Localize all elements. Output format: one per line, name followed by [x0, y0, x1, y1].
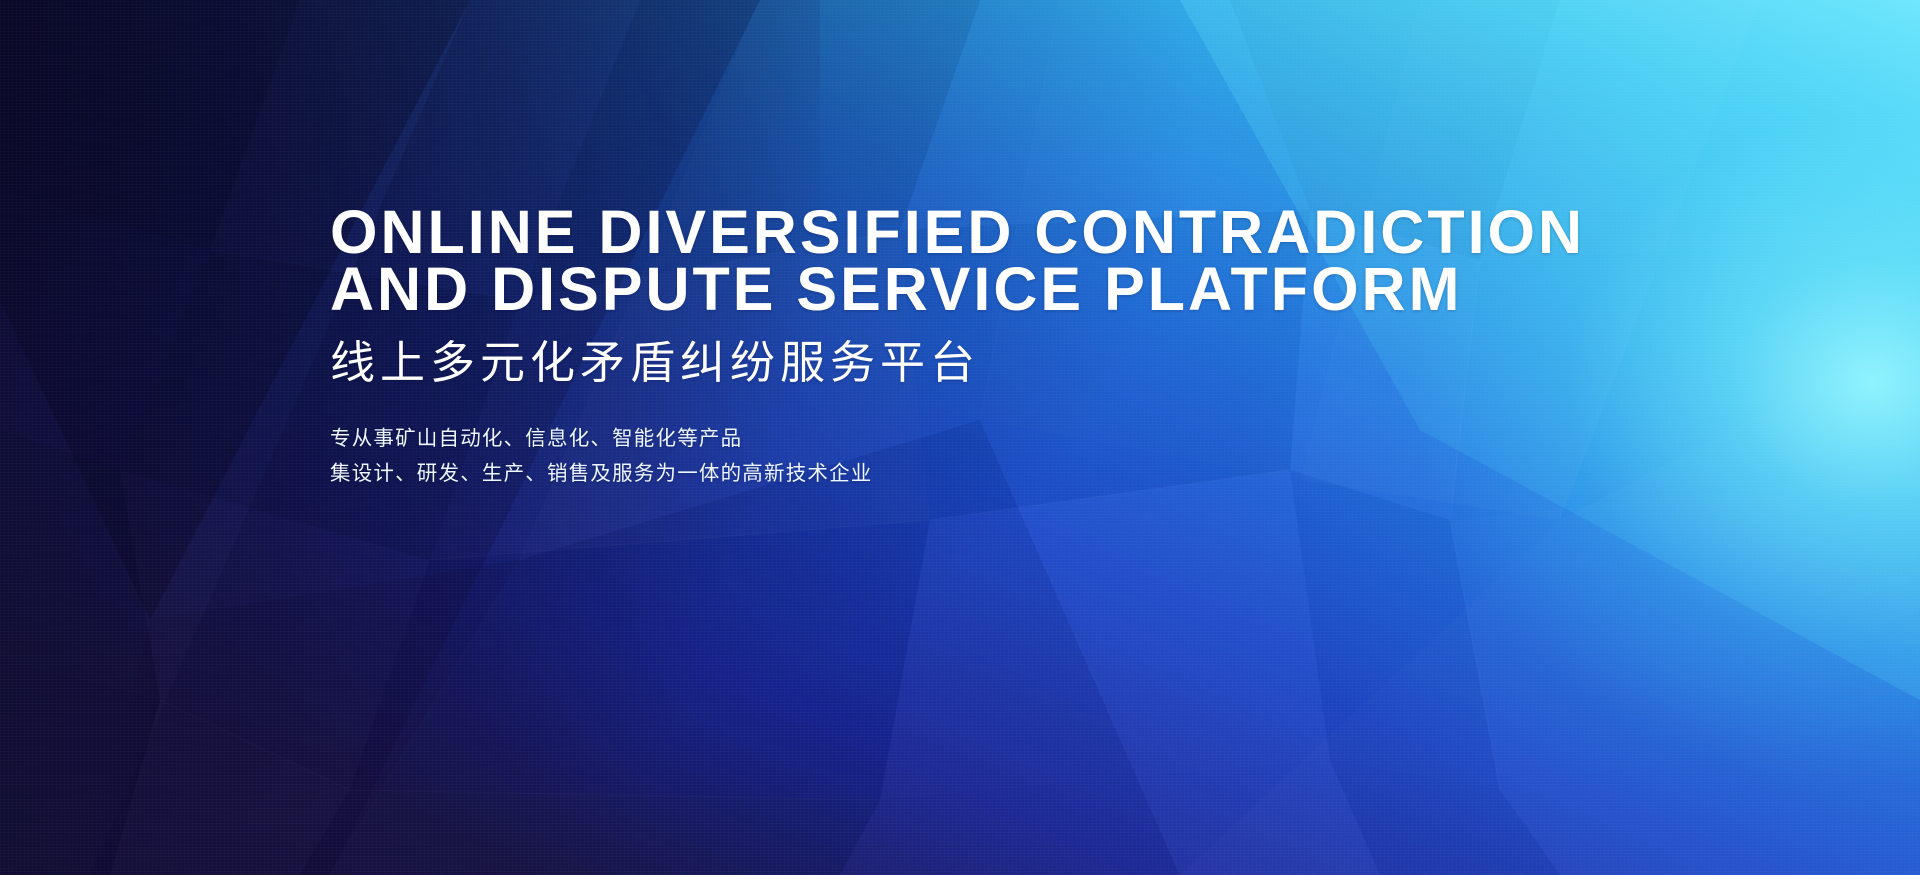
subtext-line-2: 集设计、研发、生产、销售及服务为一体的高新技术企业 [330, 456, 1650, 491]
headline-english-line-2: AND DISPUTE SERVICE PLATFORM [330, 261, 1650, 318]
headline-english-line-1: ONLINE DIVERSIFIED CONTRADICTION [330, 204, 1650, 261]
subtext-line-1: 专从事矿山自动化、信息化、智能化等产品 [330, 421, 1650, 456]
headline-chinese: 线上多元化矛盾纠纷服务平台 [330, 337, 1650, 389]
hero-content: ONLINE DIVERSIFIED CONTRADICTION AND DIS… [330, 204, 1650, 491]
hero-banner: ONLINE DIVERSIFIED CONTRADICTION AND DIS… [0, 0, 1920, 875]
subtext-block: 专从事矿山自动化、信息化、智能化等产品 集设计、研发、生产、销售及服务为一体的高… [330, 421, 1650, 491]
headline-english: ONLINE DIVERSIFIED CONTRADICTION AND DIS… [330, 204, 1650, 318]
